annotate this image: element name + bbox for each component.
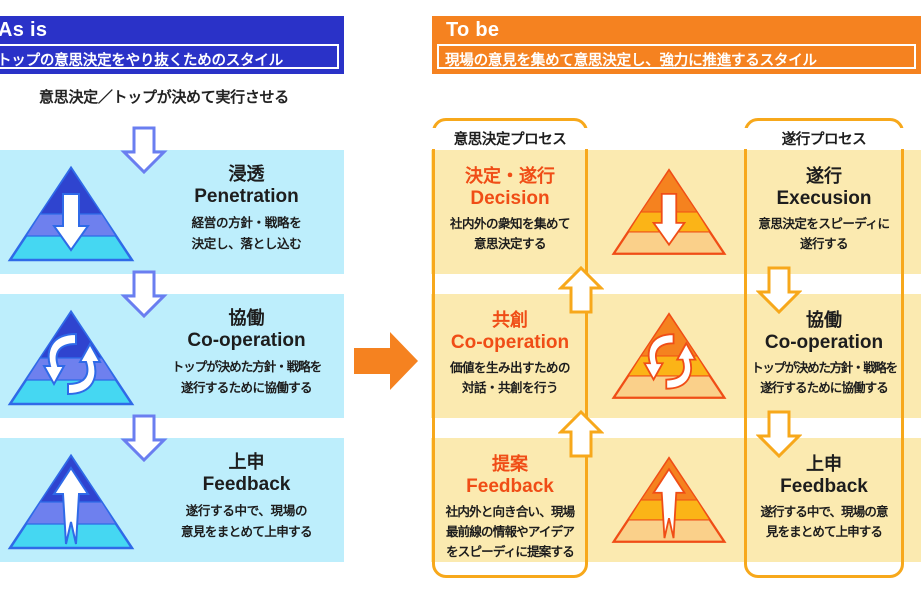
cell-desc-line3: をスピーディに提案する (436, 542, 584, 562)
to-be-subtitle-box: 現場の意見を集めて意思決定し、強力に推進するスタイル (437, 44, 916, 69)
decision-cell-1: 決定・遂行 Decision 社内外の衆知を集めて 意思決定する (436, 166, 584, 254)
to-be-header: To be 現場の意見を集めて意思決定し、強力に推進するスタイル (432, 16, 921, 74)
as-is-row-text: 浸透 Penetration 経営の方針・戦略を 決定し、落とし込む (154, 164, 339, 255)
pyramid-up-arrow-icon (610, 452, 728, 553)
arrow-right-solid-icon (352, 330, 420, 397)
as-is-row-feedback: 上申 Feedback 遂行する中で、現場の 意見をまとめて上申する (0, 438, 344, 562)
cell-desc-line2: 見をまとめて上申する (748, 522, 900, 542)
row-en-label: Co-operation (154, 330, 339, 353)
cell-en-label: Feedback (436, 476, 584, 499)
pyramid-down-arrow-icon (610, 164, 728, 265)
arrow-up-outline-icon (558, 266, 604, 319)
cell-jp-label: 遂行 (748, 166, 900, 187)
cell-desc-line2: 最前線の情報やアイデア (436, 522, 584, 542)
arrow-down-outline-icon (120, 270, 168, 323)
arrow-down-outline-icon (756, 410, 802, 463)
execution-process-label: 遂行プロセス (744, 128, 904, 149)
as-is-row-text: 上申 Feedback 遂行する中で、現場の 意見をまとめて上申する (154, 452, 339, 543)
to-be-title: To be (446, 19, 499, 42)
pyramid-circular-arrow-icon (6, 308, 136, 413)
cell-desc-line1: 遂行する中で、現場の意 (748, 502, 900, 522)
row-desc-line2: 意見をまとめて上申する (154, 522, 339, 543)
execution-cell-2: 協働 Co-operation トップが決めた方針・戦略を 遂行するために協働す… (748, 310, 900, 398)
row-desc-line1: 遂行する中で、現場の (154, 501, 339, 522)
to-be-subtitle: 現場の意見を集めて意思決定し、強力に推進するスタイル (445, 49, 817, 70)
as-is-row-text: 協働 Co-operation トップが決めた方針・戦略を 遂行するために協働す… (154, 308, 339, 399)
row-jp-label: 上申 (154, 452, 339, 473)
cell-desc-line2: 意思決定する (436, 234, 584, 254)
cell-en-label: Co-operation (436, 332, 584, 355)
pyramid-up-arrow-icon (6, 452, 136, 557)
row-jp-label: 協働 (154, 308, 339, 329)
execution-cell-1: 遂行 Execusion 意思決定をスピーディに 遂行する (748, 166, 900, 254)
cell-en-label: Feedback (748, 476, 900, 499)
cell-desc-line1: トップが決めた方針・戦略を (748, 358, 900, 378)
cell-desc-line2: 対話・共創を行う (436, 378, 584, 398)
row-jp-label: 浸透 (154, 164, 339, 185)
cell-en-label: Execusion (748, 188, 900, 211)
decision-cell-3: 提案 Feedback 社内外と向き合い、現場 最前線の情報やアイデア をスピー… (436, 454, 584, 562)
cell-en-label: Decision (436, 188, 584, 211)
as-is-row-penetration: 浸透 Penetration 経営の方針・戦略を 決定し、落とし込む (0, 150, 344, 274)
arrow-down-outline-icon (120, 126, 168, 179)
cell-jp-label: 決定・遂行 (436, 166, 584, 187)
row-desc-line1: トップが決めた方針・戦略を (154, 357, 339, 378)
cell-en-label: Co-operation (748, 332, 900, 355)
cell-desc-line1: 価値を生み出すための (436, 358, 584, 378)
cell-desc-line2: 遂行する (748, 234, 900, 254)
as-is-subtitle-box: トップの意思決定をやり抜くためのスタイル (0, 44, 339, 69)
as-is-lead-text: 意思決定／トップが決めて実行させる (0, 86, 344, 107)
as-is-subtitle: トップの意思決定をやり抜くためのスタイル (0, 49, 283, 70)
row-desc-line2: 決定し、落とし込む (154, 234, 339, 255)
cell-desc-line1: 社内外の衆知を集めて (436, 214, 584, 234)
cell-desc-line1: 社内外と向き合い、現場 (436, 502, 584, 522)
row-desc-line2: 遂行するために協働する (154, 378, 339, 399)
row-en-label: Penetration (154, 186, 339, 209)
arrow-down-outline-icon (120, 414, 168, 467)
cell-desc-line2: 遂行するために協働する (748, 378, 900, 398)
as-is-panel: As is トップの意思決定をやり抜くためのスタイル 意思決定／トップが決めて実… (0, 16, 344, 594)
diagram-canvas: As is トップの意思決定をやり抜くためのスタイル 意思決定／トップが決めて実… (0, 0, 921, 594)
row-en-label: Feedback (154, 474, 339, 497)
as-is-header: As is トップの意思決定をやり抜くためのスタイル (0, 16, 344, 74)
as-is-title: As is (0, 19, 47, 42)
to-be-panel: To be 現場の意見を集めて意思決定し、強力に推進するスタイル 意思決定プロセ… (432, 16, 921, 594)
decision-process-label: 意思決定プロセス (432, 128, 588, 149)
arrow-down-outline-icon (756, 266, 802, 319)
execution-cell-3: 上申 Feedback 遂行する中で、現場の意 見をまとめて上申する (748, 454, 900, 542)
row-desc-line1: 経営の方針・戦略を (154, 213, 339, 234)
cell-desc-line1: 意思決定をスピーディに (748, 214, 900, 234)
arrow-up-outline-icon (558, 410, 604, 463)
as-is-row-cooperation: 協働 Co-operation トップが決めた方針・戦略を 遂行するために協働す… (0, 294, 344, 418)
pyramid-circular-arrow-icon (610, 308, 728, 409)
decision-cell-2: 共創 Co-operation 価値を生み出すための 対話・共創を行う (436, 310, 584, 398)
pyramid-down-arrow-icon (6, 164, 136, 269)
